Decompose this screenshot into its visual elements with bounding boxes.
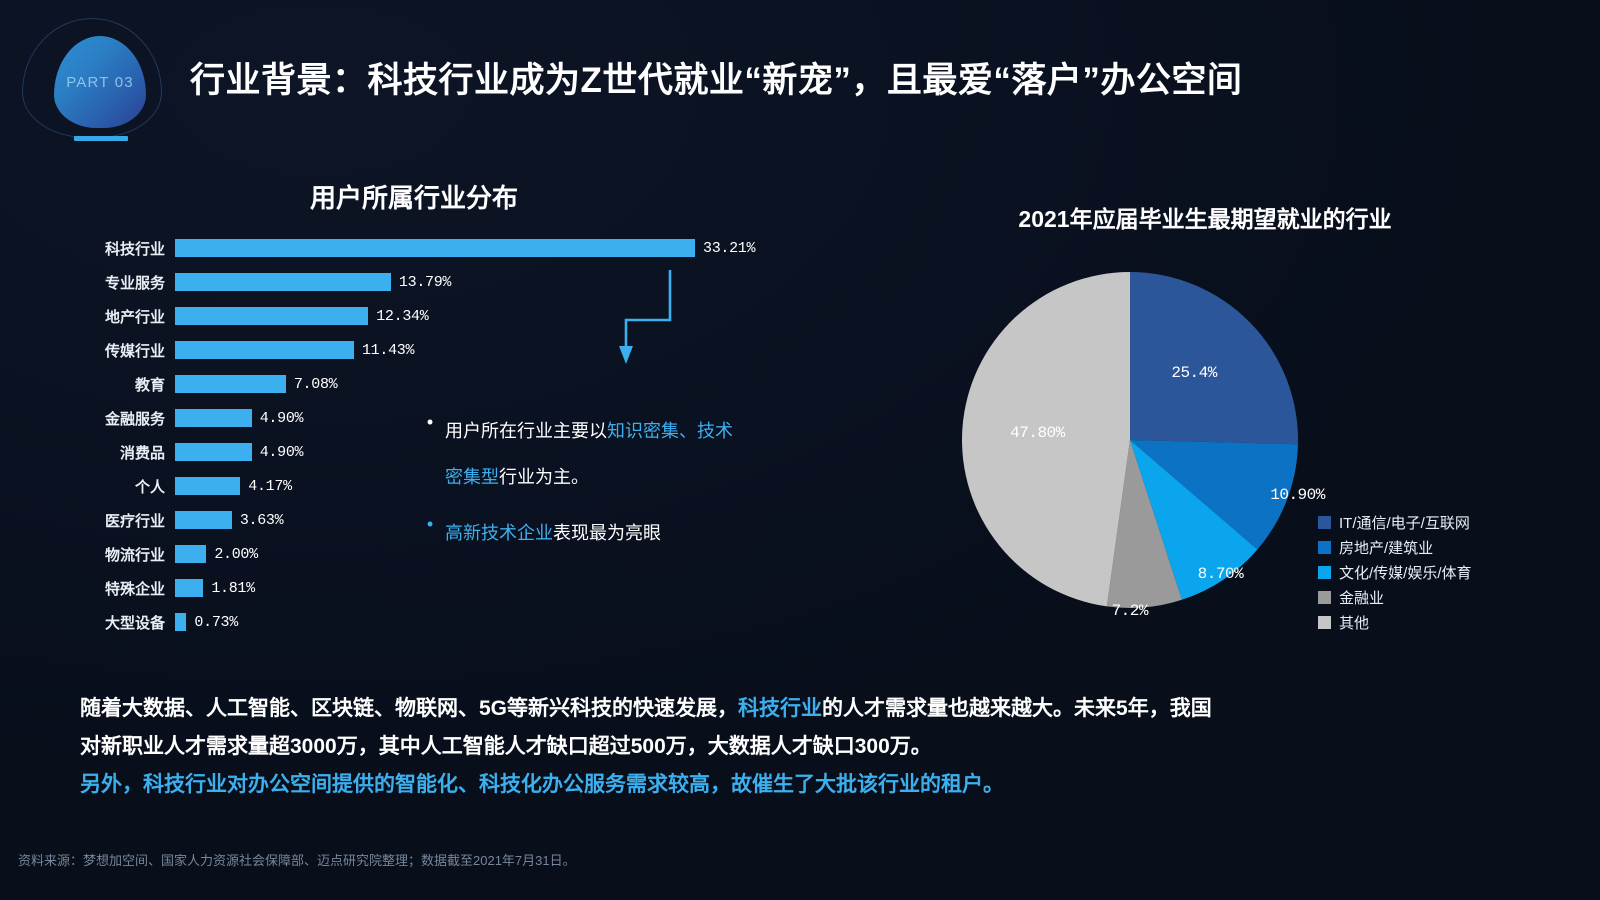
bar-fill [175,239,695,257]
bar-chart-row: 科技行业33.21% [60,231,800,265]
legend-item: 房地产/建筑业 [1318,535,1472,560]
bar-value-label: 4.90% [260,410,304,427]
badge-label: PART 03 [66,74,134,91]
bullet-highlight-3: 高新技术企业 [445,523,553,543]
bar-category-label: 科技行业 [60,238,175,259]
paragraph-line-3: 另外，科技行业对办公空间提供的智能化、科技化办公服务需求较高，故催生了大批该行业… [80,766,1540,804]
bar-value-label: 4.17% [248,478,292,495]
slide-canvas: PART 03 行业背景：科技行业成为Z世代就业“新宠”，且最爱“落户”办公空间… [0,0,1600,900]
bar-fill [175,579,203,597]
paragraph-line-2: 对新职业人才需求量超3000万，其中人工智能人才缺口超过500万，大数据人才缺口… [80,728,1540,766]
bullet-dot-icon: • [415,408,445,500]
bar-fill [175,375,286,393]
pie-svg [950,260,1310,620]
pie-chart-panel: 2021年应届毕业生最期望就业的行业 25.4%10.90%8.70%7.2%4… [900,200,1540,234]
page-title: 行业背景：科技行业成为Z世代就业“新宠”，且最爱“落户”办公空间 [190,52,1242,103]
paragraph-highlight: 科技行业 [738,697,822,720]
bar-track: 13.79% [175,265,800,299]
bar-value-label: 13.79% [399,274,451,291]
bullet-highlight-1: 知识密 [607,421,661,441]
bar-fill [175,477,240,495]
bar-category-label: 医疗行业 [60,510,175,531]
legend-label: IT/通信/电子/互联网 [1339,512,1470,533]
insight-bullets: • 用户所在行业主要以知识密集、技术密集型行业为主。 • 高新技术企业表现最为亮… [415,408,745,566]
legend-label: 其他 [1339,612,1369,633]
bar-value-label: 33.21% [703,240,755,257]
bullet-dot-icon: • [415,510,445,556]
bar-fill [175,341,354,359]
elbow-arrow-icon [612,268,682,368]
bar-fill [175,443,252,461]
bullet-text: 高新技术企业表现最为亮眼 [445,510,661,556]
bar-category-label: 传媒行业 [60,340,175,361]
part-badge: PART 03 [14,8,184,148]
legend-swatch [1318,541,1331,554]
bar-track: 0.73% [175,605,800,639]
legend-item: IT/通信/电子/互联网 [1318,510,1472,535]
badge-underline [74,136,128,141]
bar-category-label: 金融服务 [60,408,175,429]
bar-chart-row: 特殊企业1.81% [60,571,800,605]
bar-category-label: 专业服务 [60,272,175,293]
list-item: • 用户所在行业主要以知识密集、技术密集型行业为主。 [415,408,745,500]
pie-slice-value-label: 8.70% [1198,565,1244,583]
bar-value-label: 7.08% [294,376,338,393]
bar-chart-row: 地产行业12.34% [60,299,800,333]
pie-slice-value-label: 10.90% [1270,486,1325,504]
pie-chart-graphic: 25.4%10.90%8.70%7.2%47.80% [950,260,1310,625]
legend-swatch [1318,591,1331,604]
bar-fill [175,545,206,563]
bar-value-label: 1.81% [211,580,255,597]
bar-fill [175,409,252,427]
source-note: 资料来源：梦想加空间、国家人力资源社会保障部、迈点研究院整理；数据截至2021年… [18,850,576,869]
bar-category-label: 消费品 [60,442,175,463]
bullet-plain-1: 用户所在行业主要以 [445,421,607,441]
bar-fill [175,613,186,631]
bar-track: 7.08% [175,367,800,401]
legend-label: 金融业 [1339,587,1384,608]
bullet-plain-3: 表现最为亮眼 [553,523,661,543]
bar-chart-row: 教育7.08% [60,367,800,401]
pie-slice [1130,272,1298,444]
pie-slice-value-label: 7.2% [1112,602,1148,620]
bar-category-label: 物流行业 [60,544,175,565]
bar-fill [175,307,368,325]
bar-category-label: 大型设备 [60,612,175,633]
bar-category-label: 地产行业 [60,306,175,327]
bar-chart-row: 传媒行业11.43% [60,333,800,367]
paragraph-text-a: 随着大数据、人工智能、区块链、物联网、5G等新兴科技的快速发展， [80,697,738,720]
legend-item: 文化/传媒/娱乐/体育 [1318,560,1472,585]
legend-item: 金融业 [1318,585,1472,610]
bullet-plain-2: 行业为主。 [499,467,589,487]
bar-value-label: 4.90% [260,444,304,461]
bar-value-label: 12.34% [376,308,428,325]
bar-chart-row: 专业服务13.79% [60,265,800,299]
bar-value-label: 3.63% [240,512,284,529]
summary-paragraph: 随着大数据、人工智能、区块链、物联网、5G等新兴科技的快速发展，科技行业的人才需… [80,690,1540,804]
bullet-text: 用户所在行业主要以知识密集、技术密集型行业为主。 [445,408,745,500]
pie-slice-value-label: 25.4% [1171,364,1217,382]
legend-swatch [1318,516,1331,529]
bar-track: 12.34% [175,299,800,333]
bar-value-label: 11.43% [362,342,414,359]
legend-label: 房地产/建筑业 [1339,537,1433,558]
bar-fill [175,511,232,529]
legend-swatch [1318,566,1331,579]
bar-value-label: 0.73% [194,614,238,631]
paragraph-text-b: 的人才需求量也越来越大。未来5年，我国 [822,697,1212,720]
legend-item: 其他 [1318,610,1472,635]
legend-swatch [1318,616,1331,629]
pie-slice-value-label: 47.80% [1010,424,1065,442]
pie-chart-title: 2021年应届毕业生最期望就业的行业 [870,200,1540,234]
bar-value-label: 2.00% [214,546,258,563]
bar-category-label: 特殊企业 [60,578,175,599]
paragraph-line-1: 随着大数据、人工智能、区块链、物联网、5G等新兴科技的快速发展，科技行业的人才需… [80,690,1540,728]
bar-category-label: 个人 [60,476,175,497]
bar-fill [175,273,391,291]
bar-chart-row: 大型设备0.73% [60,605,800,639]
bar-track: 33.21% [175,231,800,265]
pie-chart-legend: IT/通信/电子/互联网房地产/建筑业文化/传媒/娱乐/体育金融业其他 [1318,510,1472,635]
legend-label: 文化/传媒/娱乐/体育 [1339,562,1472,583]
bar-category-label: 教育 [60,374,175,395]
bar-track: 11.43% [175,333,800,367]
bar-track: 1.81% [175,571,800,605]
bar-chart-title: 用户所属行业分布 [310,178,800,215]
list-item: • 高新技术企业表现最为亮眼 [415,510,745,556]
